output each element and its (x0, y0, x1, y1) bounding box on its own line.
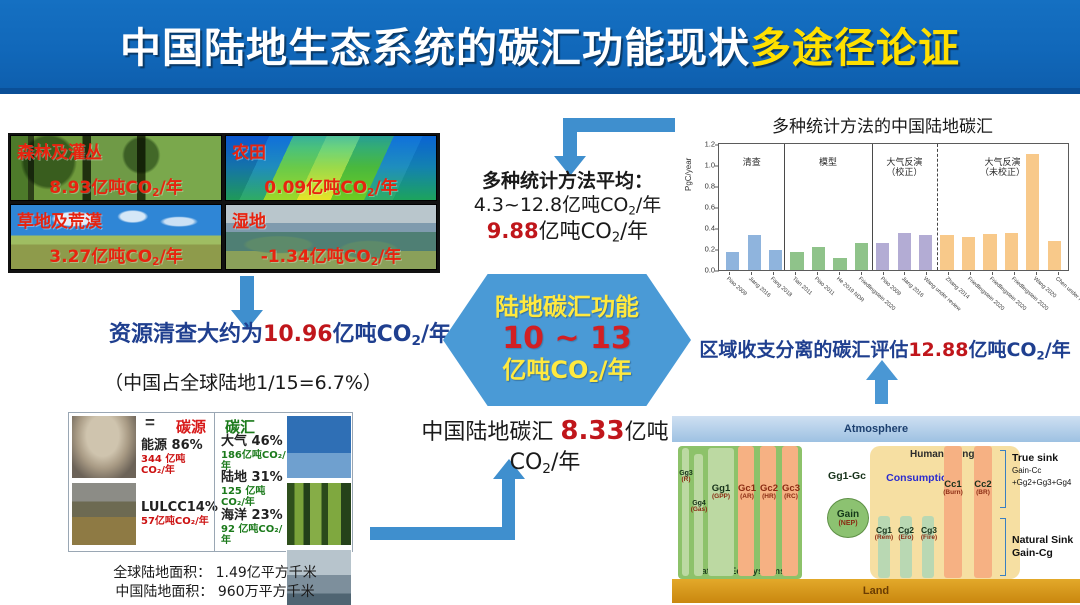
china-terrestrial-sink-block: 中国陆地碳汇 8.33亿吨 CO2/年 (420, 415, 670, 478)
chart-bar (898, 233, 911, 270)
hexagon-line-3-sub: 2 (588, 368, 598, 386)
chart-bar (769, 250, 782, 270)
source-item-energy-value: 344 亿吨CO₂/年 (141, 454, 207, 476)
photo-cell-grassland: 草地及荒漠 3.27亿吨CO2/年 (10, 204, 222, 270)
column-label-cc2: Cc2(BR) (968, 480, 998, 497)
regional-prefix: 区域收支分离的碳汇评估 (699, 339, 908, 361)
chart-x-tick-mark (773, 272, 774, 275)
column-label-cg1-sub: (Rem) (872, 535, 896, 542)
chart-x-tick-label: Wang under review (922, 276, 962, 313)
column-label-gg4: Gg4(Gas) (690, 500, 708, 514)
source-image-column (71, 415, 137, 546)
true-sink-annotation: True sink Gain-Cc +Gg2+Gg3+Gg4 (1012, 452, 1078, 489)
column-label-cc1-sub: (Burn) (938, 490, 968, 497)
chart-x-tick-mark (1036, 272, 1037, 275)
column-label-gg4-sub: (Gas) (690, 507, 708, 514)
chart-bar (983, 234, 996, 270)
chart-group-label: 清查 (718, 158, 786, 168)
chart-group-label: 大气反演（校正） (870, 158, 938, 179)
carbon-sink-half: 碳汇 大气 46% 186亿吨CO₂/年 陆地 31% 125 亿吨CO₂/年 … (214, 413, 354, 551)
photo-value-wetland-sub: 2 (371, 256, 378, 268)
chart-x-tick-mark (904, 272, 905, 275)
arrow-box-to-chinasink-horizontal (370, 527, 515, 540)
photo-value-grassland-text: 3.27亿吨CO (49, 247, 152, 267)
photo-value-cropland-text: 0.09亿吨CO (264, 178, 367, 198)
photo-value-forest-tail: /年 (159, 178, 182, 198)
regional-number: 12.88 (908, 339, 968, 361)
natural-sink-annotation: Natural Sink Gain-Cg (1012, 534, 1078, 560)
inventory-prefix: 资源清查大约为 (109, 322, 263, 347)
true-sink-formula: Gain-Cc +Gg2+Gg3+Gg4 (1012, 466, 1071, 487)
chart-x-tick-mark (883, 272, 884, 275)
chart-x-tick-label: Friedlingstein 2020 (988, 276, 1027, 312)
chart-x-tick-label: Piao 2009 (725, 276, 748, 297)
chart-bar (748, 235, 761, 270)
regional-sub: 2 (1037, 348, 1045, 362)
arrow-eco-to-regional-head (866, 360, 898, 380)
chart-x-tick-mark (861, 272, 862, 275)
arrow-eco-to-regional-shaft (875, 378, 888, 404)
arrow-photos-to-inventory-shaft (240, 276, 254, 312)
chart-bar (876, 243, 889, 270)
chart-y-tick: 0.8 (693, 182, 715, 191)
china-sink-line2-tail: /年 (551, 450, 580, 475)
china-sink-number: 8.33 (560, 416, 624, 446)
china-sink-line2-sub: 2 (542, 461, 551, 477)
carbon-source-half: 碳源 能源 86% 344 亿吨CO₂/年 LULCC14% 57亿吨CO₂/年 (69, 413, 214, 551)
column-label-gg1: Gg1(GPP) (706, 484, 736, 501)
column-cc1 (944, 446, 962, 578)
column-label-gc3: Gc3(RC) (778, 484, 804, 501)
title-main-text: 中国陆地生态系统的碳汇功能现状 (120, 14, 750, 74)
chart-bar (1048, 241, 1061, 270)
column-label-cc2-sub: (BR) (968, 490, 998, 497)
photo-value-cropland: 0.09亿吨CO2/年 (226, 173, 436, 199)
photo-value-grassland: 3.27亿吨CO2/年 (11, 242, 221, 268)
true-sink-title: True sink (1012, 452, 1078, 465)
sink-item-ocean-name: 海洋 23% (221, 509, 287, 524)
chart-x-tick-label: Tian 2011 (791, 276, 813, 297)
chart-y-tick: 0.4 (693, 224, 715, 233)
chart-y-tick: 1.2 (693, 140, 715, 149)
regional-assessment-line: 区域收支分离的碳汇评估12.88亿吨CO2/年 (690, 335, 1080, 362)
chart-group-label-sub: （未校正） (969, 168, 1037, 178)
photo-value-forest-text: 8.93亿吨CO (49, 178, 152, 198)
inventory-suffix: 亿吨CO (333, 322, 412, 347)
land-area-facts: 全球陆地面积： 1.49亿平方千米 中国陆地面积： 960万平方千米 (70, 564, 360, 602)
chart-bar (1005, 233, 1018, 270)
source-item-lulcc: LULCC14% 57亿吨CO₂/年 (141, 501, 209, 527)
sink-item-ocean: 海洋 23% 92 亿吨CO₂/年 (221, 509, 287, 546)
regional-tail: /年 (1045, 339, 1071, 361)
chart-x-tick-label: Friedlingstein 2020 (966, 276, 1005, 312)
chart-bar (919, 235, 932, 270)
atmosphere-label: Atmosphere (844, 423, 908, 435)
chart-bar (962, 237, 975, 270)
true-sink-bracket (1000, 450, 1006, 508)
chart-x-tick-mark (795, 272, 796, 275)
column-gc1 (738, 446, 754, 576)
source-item-lulcc-name: LULCC14% (141, 501, 209, 516)
column-gc3 (782, 446, 798, 576)
slide-header: 中国陆地生态系统的碳汇功能现状多途径论证 (0, 0, 1080, 94)
column-label-cg3-sub: (Fire) (916, 535, 942, 542)
chart-x-tick-mark (948, 272, 949, 275)
hexagon-line-1: 陆地碳汇功能 (495, 294, 639, 321)
chart-bar (812, 247, 825, 270)
hexagon-line-3: 亿吨CO2/年 (502, 357, 631, 386)
china-sink-line2-text: CO (510, 450, 543, 475)
header-underline (0, 88, 1080, 94)
china-land-area-line: 中国陆地面积： 960万平方千米 (70, 583, 360, 602)
chart-group-label-sub: （校正） (870, 168, 938, 178)
gain-nep-node: Gain (NEP) (827, 498, 869, 538)
slide-root: 中国陆地生态系统的碳汇功能现状多途径论证 森林及灌丛 8.93亿吨CO2/年 农… (0, 0, 1080, 605)
source-sink-equals-sign: = (143, 413, 157, 433)
chart-x-tick-mark (729, 272, 730, 275)
chart-bar (855, 243, 868, 270)
chart-x-tick-labels: Piao 2009Jiang 2016Fang 2018Tian 2011Pia… (718, 272, 1069, 306)
natural-sink-title: Natural Sink (1012, 534, 1078, 547)
sink-item-ocean-value: 92 亿吨CO₂/年 (221, 524, 287, 546)
avg-line-3: 9.88亿吨CO2/年 (455, 218, 680, 247)
chart-y-tick: 0.2 (693, 245, 715, 254)
bamboo-photo (286, 482, 352, 546)
chart-group-label-main: 模型 (794, 158, 862, 168)
sink-item-land: 陆地 31% 125 亿吨CO₂/年 (221, 471, 287, 508)
photo-value-wetland-text: -1.34亿吨CO (261, 247, 371, 267)
chart-group-label-main: 大气反演 (969, 158, 1037, 168)
chart-plot-area: 0.00.20.40.60.81.01.2 清查模型大气反演（校正）大气反演（未… (718, 143, 1069, 271)
column-label-cg2-sub: (Ero) (894, 535, 918, 542)
natural-sink-bracket (1000, 518, 1006, 576)
chart-y-tick: 0.6 (693, 203, 715, 212)
gain-sublabel: (NEP) (838, 520, 857, 527)
column-label-cg1: Cg1(Rem) (872, 526, 896, 542)
regional-suffix: 亿吨CO (968, 339, 1036, 361)
avg-line-3-text: 亿吨CO (539, 219, 612, 243)
chart-x-tick-mark (1058, 272, 1059, 275)
chart-x-tick-label: Chen under review (1054, 276, 1080, 312)
photo-cell-wetland: 湿地 -1.34亿吨CO2/年 (225, 204, 437, 270)
column-gc2 (760, 446, 776, 576)
avg-line-3-sub: 2 (612, 230, 620, 245)
china-sink-prefix: 中国陆地碳汇 (421, 420, 553, 445)
chart-bar (790, 252, 803, 270)
carbon-budget-schematic: Atmosphere Natural Ecosystems Gg3(R) Gg4… (672, 408, 1080, 605)
arrow-chart-to-average-vertical (563, 118, 577, 158)
column-label-cc1: Cc1(Burn) (938, 480, 968, 497)
header-band: 中国陆地生态系统的碳汇功能现状多途径论证 (0, 0, 1080, 88)
sink-item-atmosphere: 大气 46% 186亿吨CO₂/年 (221, 435, 287, 472)
photo-label-cropland: 农田 (232, 138, 266, 163)
chart-x-tick-mark (926, 272, 927, 275)
avg-line-1: 多种统计方法平均： (455, 170, 680, 194)
photo-cell-forest: 森林及灌丛 8.93亿吨CO2/年 (10, 135, 222, 201)
sink-item-atmosphere-value: 186亿吨CO₂/年 (221, 450, 287, 472)
chart-group-label: 大气反演（未校正） (969, 158, 1037, 179)
chart-bar (940, 235, 953, 270)
sink-item-atmosphere-name: 大气 46% (221, 435, 287, 450)
carbon-source-sink-box: 碳源 能源 86% 344 亿吨CO₂/年 LULCC14% 57亿吨CO₂/年… (68, 412, 353, 552)
title-accent-text: 多途径论证 (750, 14, 960, 74)
chart-title: 多种统计方法的中国陆地碳汇 (690, 112, 1075, 137)
sink-item-land-name: 陆地 31% (221, 471, 287, 486)
page-title: 中国陆地生态系统的碳汇功能现状多途径论证 (120, 14, 960, 74)
carbon-source-heading: 碳源 (176, 416, 206, 437)
photo-value-wetland-tail: /年 (378, 247, 401, 267)
chart-x-tick-mark (751, 272, 752, 275)
land-band: Land (672, 579, 1080, 603)
statistical-average-block: 多种统计方法平均： 4.3~12.8亿吨CO2/年 9.88亿吨CO2/年 (455, 170, 680, 247)
arrow-chart-to-average-horizontal (563, 118, 675, 132)
chart-group-label: 模型 (794, 158, 862, 168)
avg-line-2-text: 4.3~12.8亿吨CO (474, 194, 629, 216)
logging-photo (71, 482, 137, 546)
photo-label-grassland: 草地及荒漠 (17, 207, 102, 232)
ecosystem-photo-grid: 森林及灌丛 8.93亿吨CO2/年 农田 0.09亿吨CO2/年 草地及荒漠 3… (8, 133, 440, 273)
photo-label-wetland: 湿地 (232, 207, 266, 232)
hexagon-line-3-text: 亿吨CO (502, 356, 588, 384)
inventory-number: 10.96 (263, 322, 333, 347)
chart-x-tick-mark (992, 272, 993, 275)
chart-group-label-main: 清查 (718, 158, 786, 168)
china-sink-line-2: CO2/年 (420, 449, 670, 479)
source-item-lulcc-value: 57亿吨CO₂/年 (141, 516, 209, 527)
photo-cell-cropland: 农田 0.09亿吨CO2/年 (225, 135, 437, 201)
terrestrial-carbon-sink-hexagon: 陆地碳汇功能 10 ~ 13 亿吨CO2/年 (443, 274, 691, 406)
inventory-estimate-line: 资源清查大约为10.96亿吨CO2/年 (100, 316, 460, 349)
chart-x-tick-label: Friedlingstein 2020 (1010, 276, 1049, 312)
chart-bar-slot (936, 144, 957, 270)
chart-body: PgC/year 0.00.20.40.60.81.01.2 清查模型大气反演（… (690, 139, 1075, 305)
column-label-gg3: Gg3(R) (678, 470, 694, 484)
photo-value-cropland-tail: /年 (374, 178, 397, 198)
column-label-gg1-sub: (GPP) (706, 494, 736, 501)
photo-value-forest: 8.93亿吨CO2/年 (11, 173, 221, 199)
chart-bar-slot (1044, 144, 1065, 270)
avg-line-2: 4.3~12.8亿吨CO2/年 (455, 194, 680, 218)
global-land-share-note: （中国占全球陆地1/15=6.7%） (78, 368, 408, 395)
chart-x-tick-mark (817, 272, 818, 275)
chart-y-axis-label: PgC/year (684, 158, 693, 191)
methods-comparison-chart: 多种统计方法的中国陆地碳汇 PgC/year 0.00.20.40.60.81.… (690, 112, 1075, 302)
source-item-energy-name: 能源 86% (141, 439, 207, 454)
column-label-gc3-sub: (RC) (778, 494, 804, 501)
smokestack-photo (71, 415, 137, 479)
photo-label-forest: 森林及灌丛 (17, 138, 102, 163)
chart-y-tick: 0.0 (693, 266, 715, 275)
china-sink-suffix: 亿吨 (625, 420, 669, 445)
avg-line-3-number: 9.88 (487, 219, 539, 243)
chart-bar (726, 252, 739, 270)
photo-value-grassland-tail: /年 (159, 247, 182, 267)
chart-group-label-main: 大气反演 (870, 158, 938, 168)
chart-x-tick-label: Piao 2011 (813, 276, 835, 297)
column-cc2 (974, 446, 992, 578)
chart-y-tick: 1.0 (693, 161, 715, 170)
chart-x-tick-label: Jiang 2016 (747, 276, 771, 299)
column-label-cg2: Cg2(Ero) (894, 526, 918, 542)
avg-line-2-tail: /年 (636, 194, 661, 216)
gain-label: Gain (837, 509, 859, 520)
sink-item-land-value: 125 亿吨CO₂/年 (221, 486, 287, 508)
photo-value-wetland: -1.34亿吨CO2/年 (226, 242, 436, 268)
chart-x-tick-mark (1014, 272, 1015, 275)
column-gg1 (708, 448, 734, 576)
source-item-energy: 能源 86% 344 亿吨CO₂/年 (141, 439, 207, 476)
inventory-sub: 2 (411, 333, 420, 349)
column-label-gg3-sub: (R) (678, 477, 694, 484)
column-gg3 (682, 448, 689, 576)
chart-bar (833, 258, 846, 270)
avg-line-3-tail: /年 (620, 219, 648, 243)
avg-line-2-sub: 2 (628, 203, 636, 217)
land-label: Land (863, 585, 889, 597)
column-label-cg3: Cg3(Fire) (916, 526, 942, 542)
chart-x-tick-label: Fang 2018 (769, 276, 793, 298)
hexagon-line-2: 10 ~ 13 (502, 322, 632, 356)
chart-x-tick-mark (970, 272, 971, 275)
arrow-box-to-chinasink-vertical (502, 478, 515, 538)
natural-sink-formula: Gain-Cg (1012, 547, 1078, 560)
china-sink-line-1: 中国陆地碳汇 8.33亿吨 (420, 415, 670, 449)
hexagon-line-3-tail: /年 (599, 356, 632, 384)
sky-photo (286, 415, 352, 479)
column-gg4 (694, 454, 703, 576)
chart-x-tick-mark (839, 272, 840, 275)
atmosphere-band: Atmosphere (672, 416, 1080, 442)
global-land-area-line: 全球陆地面积： 1.49亿平方千米 (70, 564, 360, 583)
